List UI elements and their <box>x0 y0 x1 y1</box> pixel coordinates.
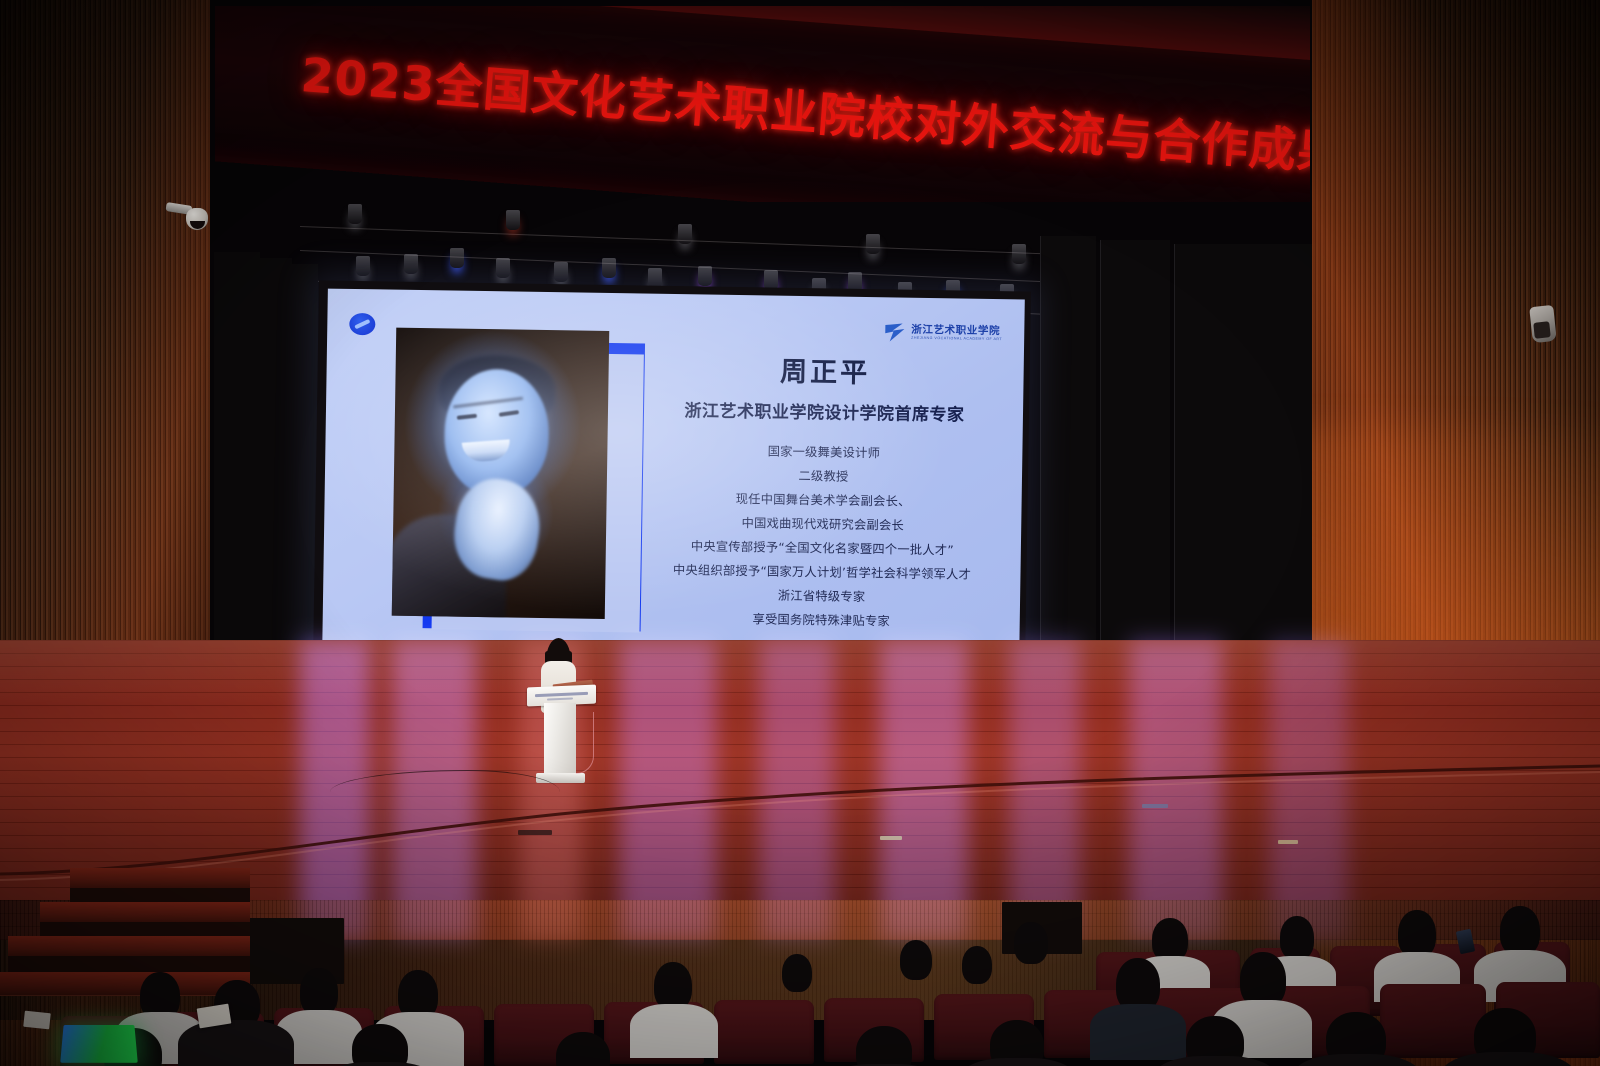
speaking-podium <box>527 686 596 785</box>
academy-logo-cn: 浙江艺术职业学院 <box>911 325 1002 337</box>
stage-light <box>698 266 712 286</box>
floor-marker-tape <box>1278 840 1298 844</box>
podium-cable <box>576 712 594 774</box>
floor-light-beam <box>1130 640 1222 940</box>
auditorium-scene: 2023全国文化艺术职业院校对外交流与合作成果交流展示活动 <box>0 0 1600 1066</box>
stage-light <box>356 256 370 276</box>
audience-person <box>962 946 992 984</box>
floor-light-beam <box>880 640 968 940</box>
credential-line: 浙江省特级专家 <box>641 584 1002 608</box>
swallow-bird-icon <box>884 322 906 342</box>
audience-area <box>0 916 1600 1066</box>
stage-light <box>348 204 362 224</box>
audience-person <box>1398 910 1436 958</box>
stage-light <box>554 262 568 282</box>
audience-person <box>1090 1004 1186 1060</box>
credential-line: 中央宣传部授予“全国文化名家暨四个一批人才” <box>642 536 1003 560</box>
floor-light-beam <box>620 640 716 940</box>
speaker-role: 浙江艺术职业学院设计学院首席专家 <box>644 396 1005 427</box>
audience-person <box>352 1024 408 1066</box>
stage-leg <box>1100 240 1170 666</box>
stage-light <box>450 248 464 268</box>
academy-logo: 浙江艺术职业学院 ZHEJIANG VOCATIONAL ACADEMY OF … <box>884 319 1002 347</box>
audience-person <box>856 1026 912 1066</box>
floor-marker-tape <box>1142 804 1168 808</box>
speaker-name: 周正平 <box>644 348 1006 393</box>
audience-person <box>178 1020 294 1066</box>
wall-speaker-icon <box>1531 306 1555 342</box>
led-banner: 2023全国文化艺术职业院校对外交流与合作成果交流展示活动 <box>215 6 1310 202</box>
floor-marker-tape <box>880 836 902 840</box>
floor-light-beam <box>760 640 834 940</box>
audience-person <box>654 962 692 1010</box>
stage-light <box>506 210 520 230</box>
portrait-face <box>444 368 550 496</box>
stage-light <box>404 254 418 274</box>
stair-riser <box>70 888 250 902</box>
projection-screen: 浙江艺术职业学院 ZHEJIANG VOCATIONAL ACADEMY OF … <box>313 280 1031 669</box>
audience-seat <box>1380 984 1486 1058</box>
audience-person <box>630 1004 718 1058</box>
floor-marker-tape <box>518 830 552 835</box>
stage-light <box>678 224 692 244</box>
credential-line: 中央组织部授予“国家万人计划’哲学社会科学领军人才 <box>641 560 1002 584</box>
speaker-portrait-photo <box>392 328 609 619</box>
stage-light <box>602 258 616 278</box>
academy-logo-en: ZHEJIANG VOCATIONAL ACADEMY OF ART <box>911 337 1002 342</box>
audience-person <box>300 968 338 1016</box>
credential-line: 国家一级舞美设计师 <box>643 440 1004 464</box>
credential-line: 二级教授 <box>643 464 1004 488</box>
program-paper <box>23 1011 51 1030</box>
laptop-screen <box>60 1025 138 1063</box>
slide-text-block: 周正平 浙江艺术职业学院设计学院首席专家 国家一级舞美设计师 二级教授 现任中国… <box>641 348 1006 632</box>
podium-column <box>544 703 576 775</box>
audience-seat <box>714 1000 814 1064</box>
credential-line: 中国戏曲现代戏研究会副会长 <box>642 512 1003 536</box>
audience-person <box>556 1032 610 1066</box>
floor-light-beam <box>1270 640 1348 940</box>
credential-line: 享受国务院特殊津贴专家 <box>641 608 1002 632</box>
floor-light-beam <box>1010 640 1080 940</box>
badge-mark <box>354 319 370 329</box>
stage-leg <box>1174 244 1312 668</box>
speaker-credentials-list: 国家一级舞美设计师 二级教授 现任中国舞台美术学会副会长、 中国戏曲现代戏研究会… <box>641 440 1005 632</box>
stage-light <box>1012 244 1026 264</box>
presentation-slide: 浙江艺术职业学院 ZHEJIANG VOCATIONAL ACADEMY OF … <box>322 289 1025 663</box>
speaker-grill <box>1533 321 1551 339</box>
slide-badge-icon <box>349 313 375 335</box>
stair-step <box>70 868 250 890</box>
dome-camera-icon <box>166 200 208 240</box>
credential-line: 现任中国舞台美术学会副会长、 <box>643 488 1004 512</box>
stage-leg <box>1040 236 1096 666</box>
stage-light <box>496 258 510 278</box>
stage-light <box>866 234 880 254</box>
audience-person <box>1280 916 1314 960</box>
audience-person <box>1500 906 1540 956</box>
